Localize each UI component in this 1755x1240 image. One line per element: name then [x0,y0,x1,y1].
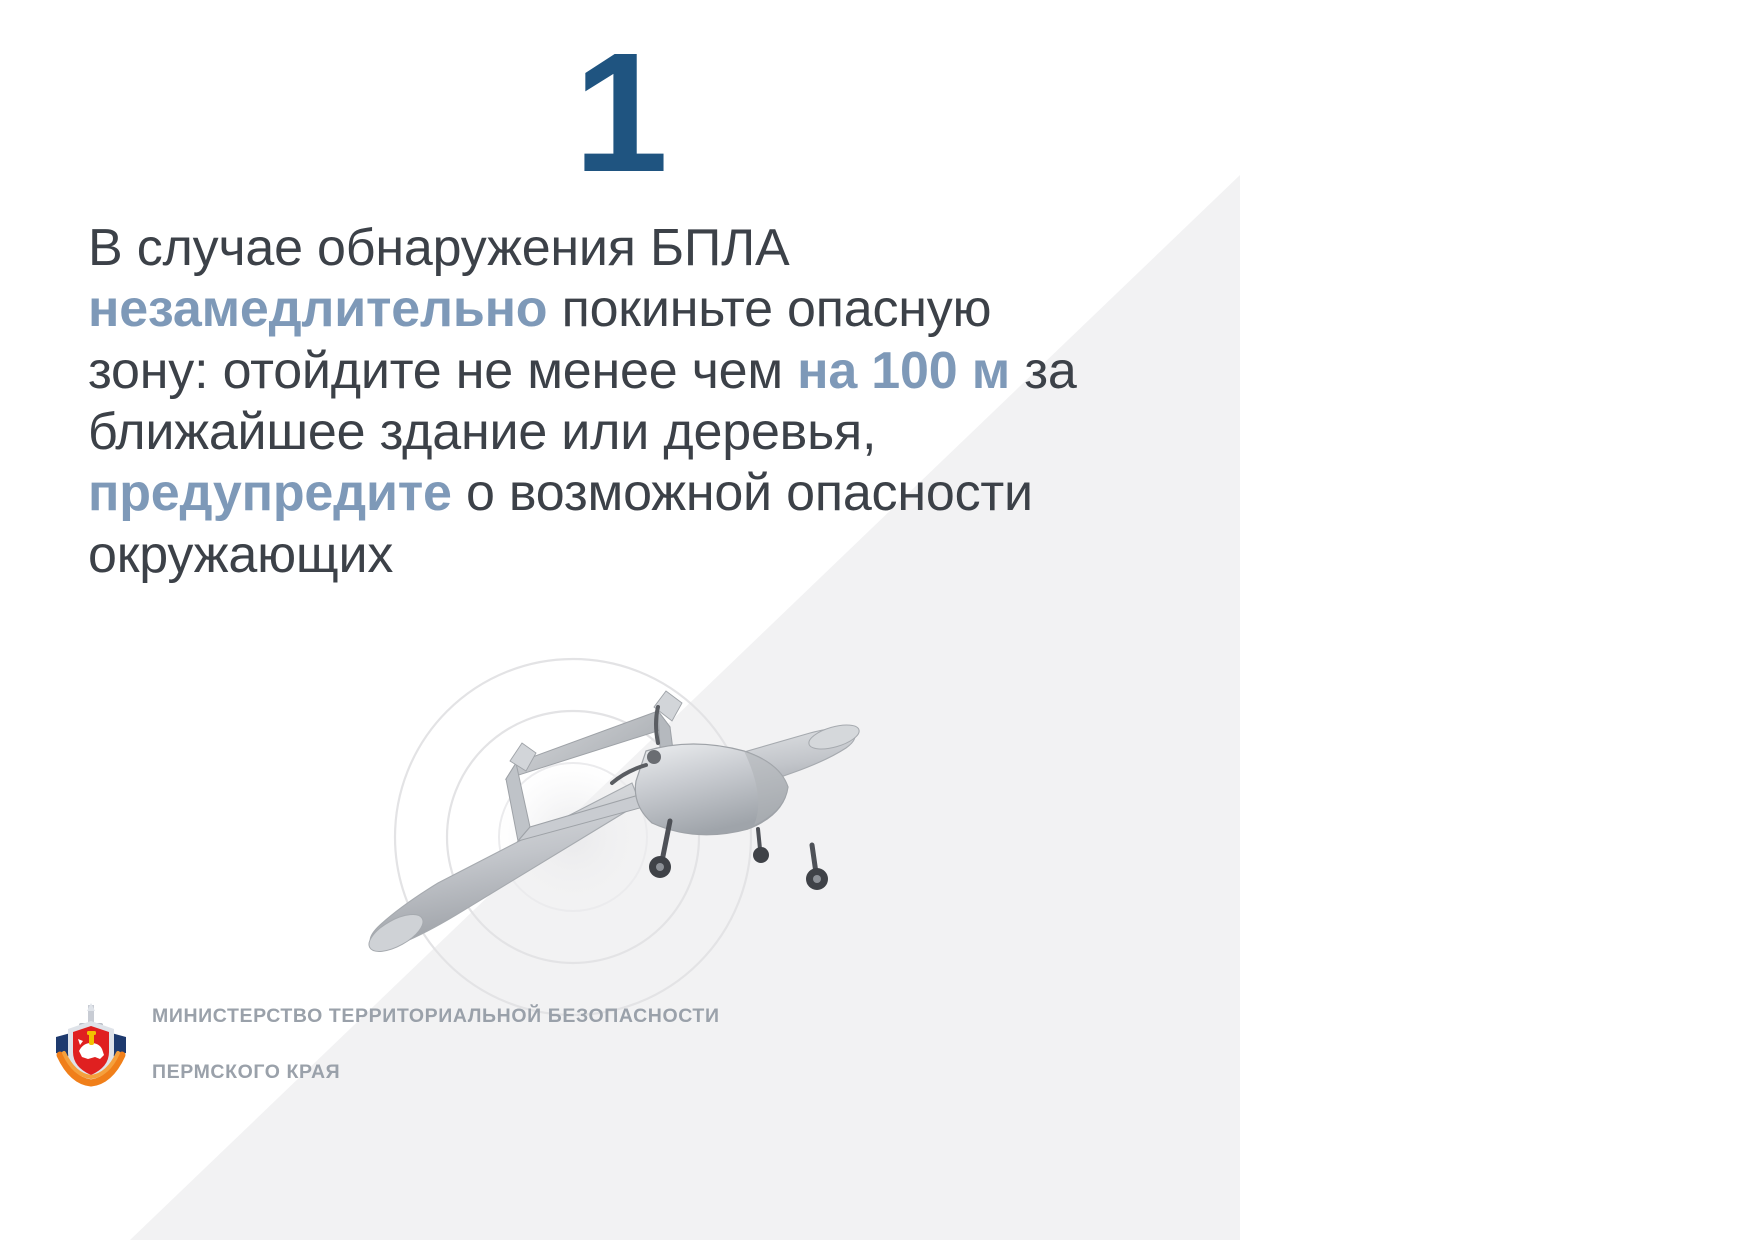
step-number: 1 [0,28,1240,198]
infographic-slide: 1 В случае обнаружения БПЛА незамедлител… [0,0,1755,1240]
instruction-text: В случае обнаружения БПЛА незамедлительн… [88,218,1098,586]
ministry-emblem-icon [52,1001,130,1089]
footer-line-2: ПЕРМСКОГО КРАЯ [152,1059,720,1087]
text-segment-3-highlight: на 100 м [797,342,1010,400]
footer-ministry-name: МИНИСТЕРСТВО ТЕРРИТОРИАЛЬНОЙ БЕЗОПАСНОСТ… [152,976,720,1114]
footer: МИНИСТЕРСТВО ТЕРРИТОРИАЛЬНОЙ БЕЗОПАСНОСТ… [52,976,720,1114]
text-segment-5-highlight: предупредите [88,464,452,522]
footer-line-1: МИНИСТЕРСТВО ТЕРРИТОРИАЛЬНОЙ БЕЗОПАСНОСТ… [152,1005,720,1027]
text-segment-1-highlight: незамедлительно [88,280,547,338]
text-segment-0: В случае обнаружения БПЛА [88,219,790,277]
uav-illustration [330,575,850,975]
